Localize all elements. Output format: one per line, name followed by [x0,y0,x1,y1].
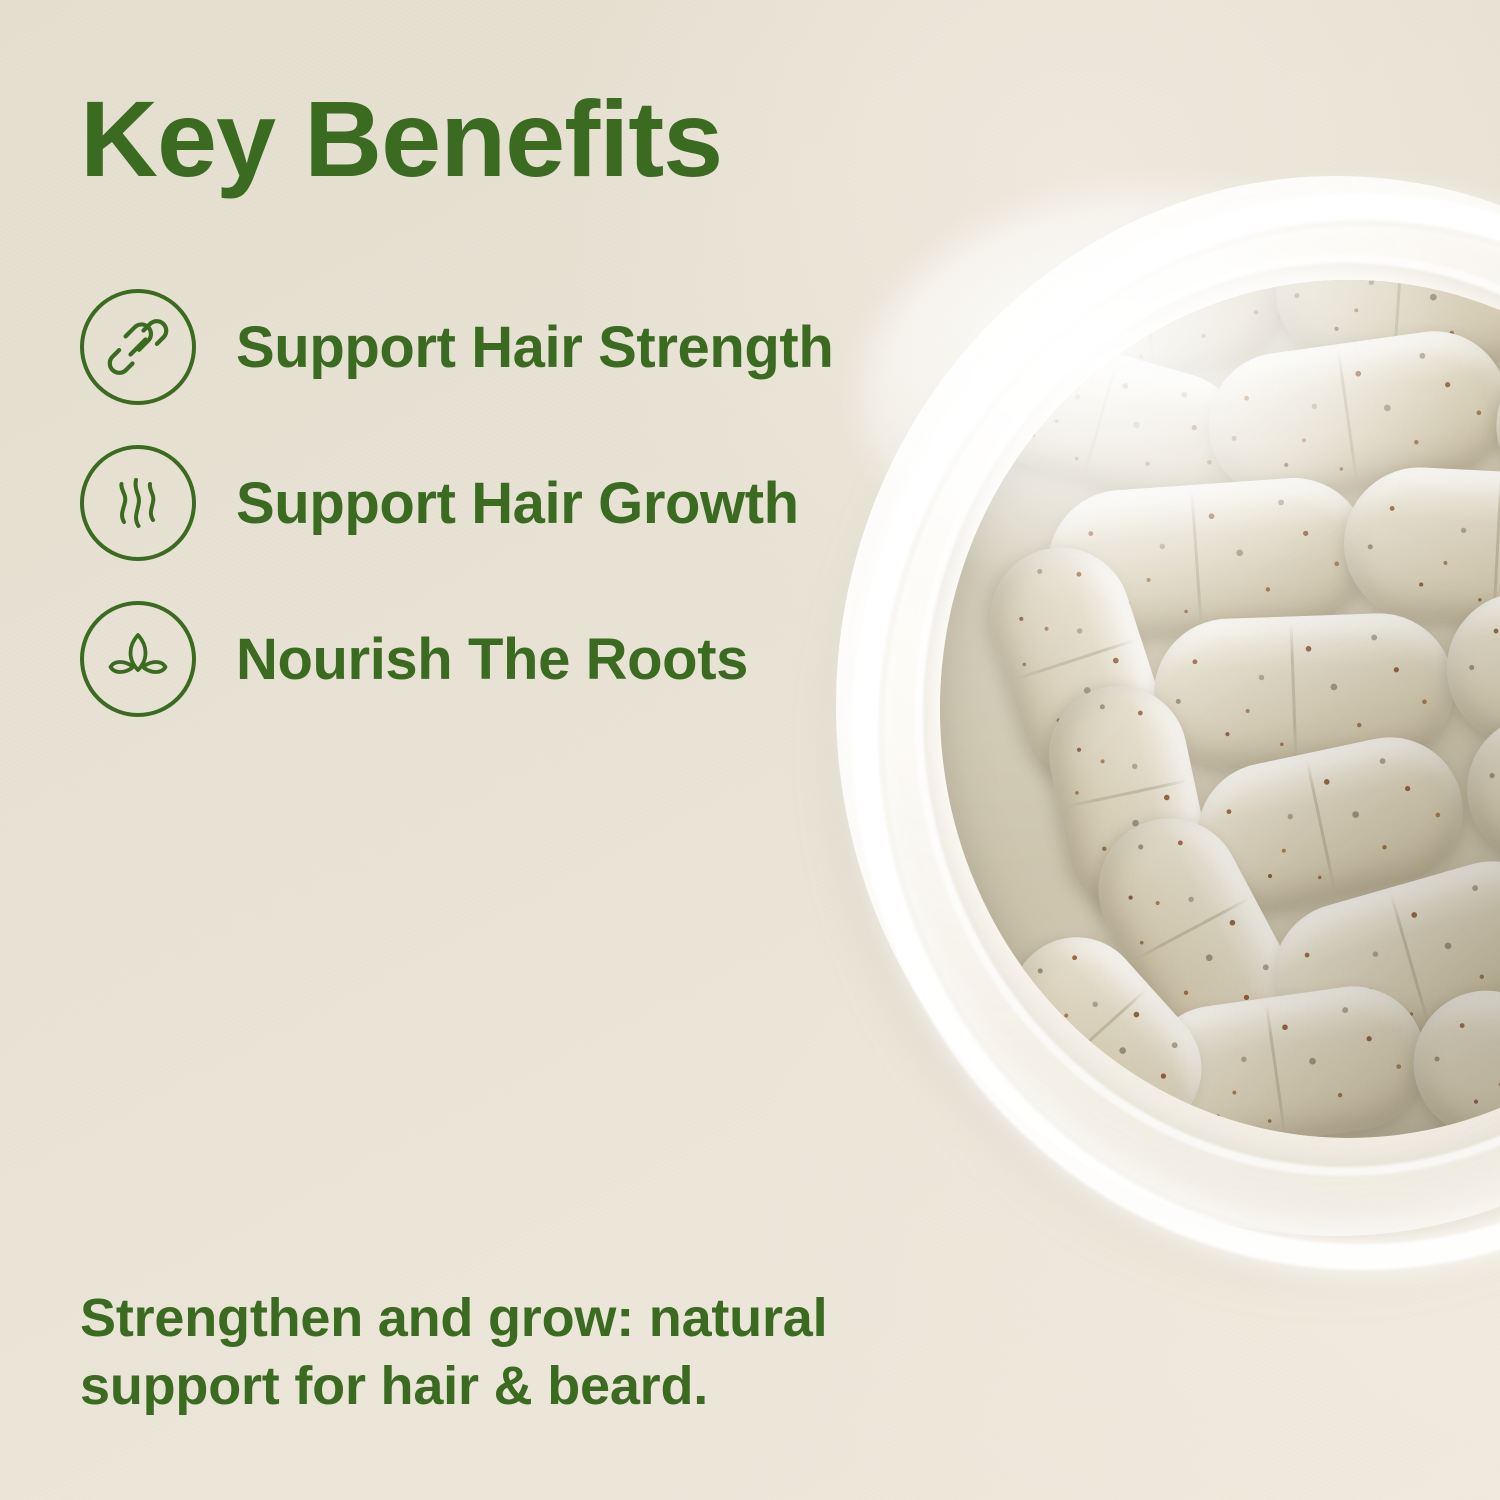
benefit-item-nourish-roots: Nourish The Roots [80,600,940,718]
benefit-label: Nourish The Roots [236,626,748,693]
benefits-list: Support Hair Strength Support Hair Growt… [80,288,940,756]
benefit-label: Support Hair Growth [236,470,799,537]
sprout-leaves-icon [80,601,196,717]
page-title: Key Benefits [80,84,722,194]
benefit-item-hair-growth: Support Hair Growth [80,444,940,562]
benefit-label: Support Hair Strength [236,314,833,381]
chain-link-icon [80,289,196,405]
product-benefits-graphic: Key Benefits Support Hair Strength [0,0,1500,1500]
footer-caption: Strengthen and grow: natural support for… [80,1284,880,1420]
hair-strands-icon [80,445,196,561]
benefit-item-hair-strength: Support Hair Strength [80,288,940,406]
